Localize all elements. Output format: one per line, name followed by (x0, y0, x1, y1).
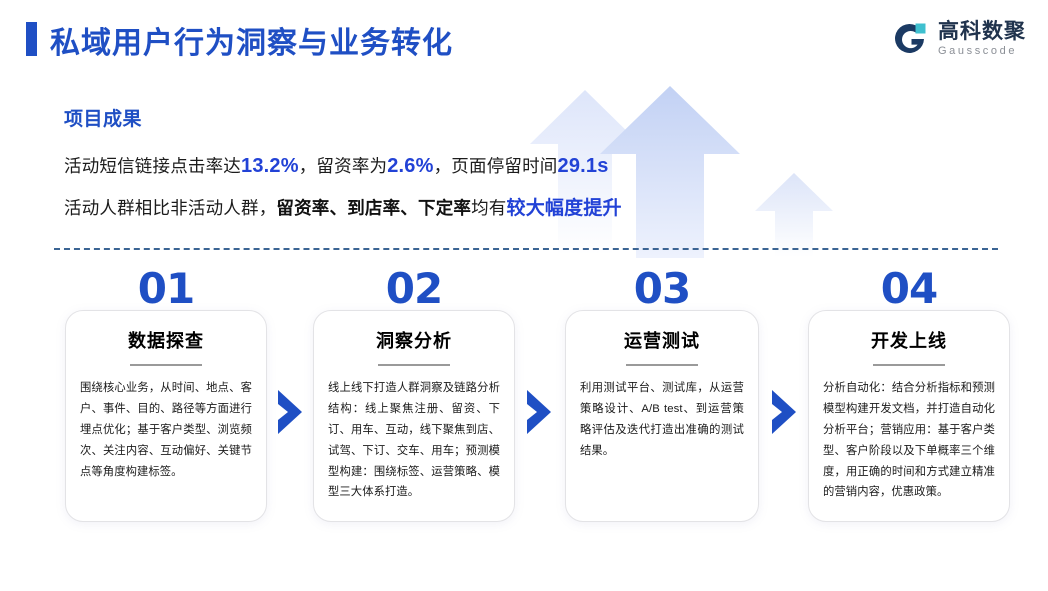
result-1-value-dwell-time: 29.1s (558, 155, 609, 177)
logo-name-cn: 高科数聚 (938, 21, 1026, 42)
brand-logo: 高科数聚 Gausscode (891, 16, 1026, 62)
step-title-02: 洞察分析 (314, 327, 514, 353)
slide-canvas: 私域用户行为洞察与业务转化 高科数聚 Gausscode 项目成果 活动短信链接… (0, 0, 1048, 591)
chevron-right-icon-2 (524, 390, 554, 434)
step-card-01[interactable]: 01 数据探查 围绕核心业务，从时间、地点、客户、事件、目的、路径等方面进行埋点… (65, 310, 267, 522)
logo-mark-icon (891, 20, 929, 58)
steps-row: 01 数据探查 围绕核心业务，从时间、地点、客户、事件、目的、路径等方面进行埋点… (0, 262, 1048, 532)
result-2-metrics: 留资率、到店率、下定率 (276, 198, 471, 218)
logo-name-en: Gausscode (938, 46, 1026, 57)
step-card-02[interactable]: 02 洞察分析 线上线下打造人群洞察及链路分析结构：线上聚焦注册、留资、下订、用… (313, 310, 515, 522)
result-line-1: 活动短信链接点击率达13.2%，留资率为2.6%，页面停留时间29.1s (64, 153, 704, 178)
step-body-04: 分析自动化：结合分析指标和预测模型构建开发文档，并打造自动化分析平台；营销应用：… (809, 378, 1009, 503)
slide-header: 私域用户行为洞察与业务转化 高科数聚 Gausscode (0, 0, 1048, 78)
step-body-03: 利用测试平台、测试库，从运营策略设计、A/B test、到运营策略评估及迭代打造… (566, 378, 758, 462)
step-title-03: 运营测试 (566, 327, 758, 353)
step-number-03: 03 (566, 264, 758, 313)
step-rule-04 (873, 364, 945, 366)
step-number-04: 04 (809, 264, 1009, 313)
step-number-01: 01 (66, 264, 266, 313)
step-rule-02 (378, 364, 450, 366)
result-1-seg-3: ，页面停留时间 (434, 156, 558, 176)
result-1-value-lead-rate: 2.6% (387, 155, 433, 177)
step-body-01: 围绕核心业务，从时间、地点、客户、事件、目的、路径等方面进行埋点优化；基于客户类… (66, 378, 266, 482)
result-1-seg-1: 活动短信链接点击率达 (64, 156, 241, 176)
logo-text: 高科数聚 Gausscode (938, 21, 1026, 57)
result-2-highlight: 较大幅度提升 (507, 198, 622, 219)
step-title-04: 开发上线 (809, 327, 1009, 353)
result-1-seg-2: ，留资率为 (299, 156, 388, 176)
result-2-seg-2: 均有 (471, 198, 506, 218)
chevron-right-icon-1 (275, 390, 305, 434)
step-card-03[interactable]: 03 运营测试 利用测试平台、测试库，从运营策略设计、A/B test、到运营策… (565, 310, 759, 522)
results-heading: 项目成果 (64, 104, 704, 131)
step-number-02: 02 (314, 264, 514, 313)
background-arrow-right-icon (755, 173, 833, 257)
section-divider (54, 248, 998, 250)
step-card-04[interactable]: 04 开发上线 分析自动化：结合分析指标和预测模型构建开发文档，并打造自动化分析… (808, 310, 1010, 522)
page-title: 私域用户行为洞察与业务转化 (50, 18, 453, 62)
step-rule-03 (626, 364, 698, 366)
result-1-value-click-rate: 13.2% (241, 155, 299, 177)
step-rule-01 (130, 364, 202, 366)
result-2-seg-1: 活动人群相比非活动人群， (64, 198, 276, 218)
results-block: 项目成果 活动短信链接点击率达13.2%，留资率为2.6%，页面停留时间29.1… (64, 104, 704, 235)
result-line-2: 活动人群相比非活动人群，留资率、到店率、下定率均有较大幅度提升 (64, 193, 704, 220)
title-accent-bar (26, 22, 37, 56)
step-title-01: 数据探查 (66, 327, 266, 353)
step-body-02: 线上线下打造人群洞察及链路分析结构：线上聚焦注册、留资、下订、用车、互动，线下聚… (314, 378, 514, 503)
chevron-right-icon-3 (769, 390, 799, 434)
